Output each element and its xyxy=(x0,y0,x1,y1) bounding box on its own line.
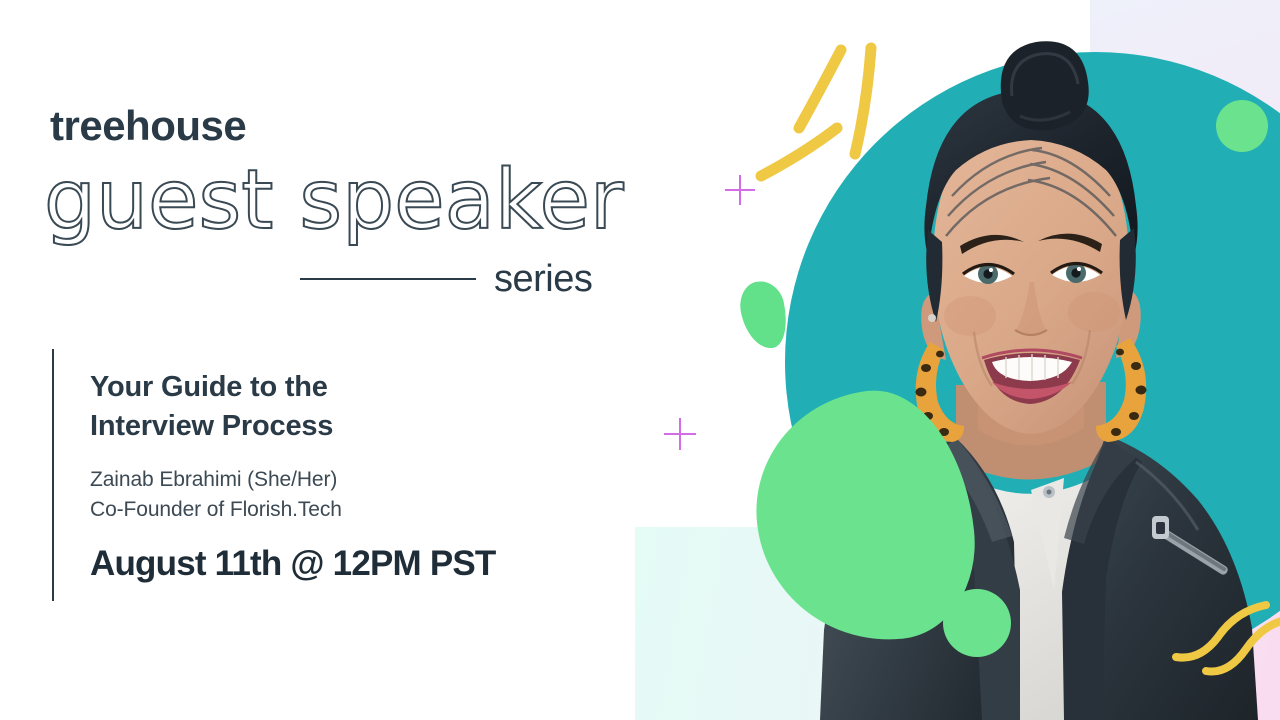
talk-title-line-1: Your Guide to the xyxy=(90,368,610,407)
sparkle-strokes-icon xyxy=(745,28,895,198)
series-divider-rule xyxy=(300,278,476,280)
wavy-lines-icon xyxy=(1170,575,1280,695)
plus-mark-icon-lower xyxy=(664,418,696,450)
circle-icon-bottom-right xyxy=(943,589,1011,657)
presentation-slide: treehouse guest speaker series Your Guid… xyxy=(0,0,1280,720)
series-row: series xyxy=(300,256,630,302)
series-label: series xyxy=(494,260,592,298)
talk-title-line-2: Interview Process xyxy=(90,407,610,446)
speaker-role: Co-Founder of Florish.Tech xyxy=(90,495,610,525)
brand-wordmark: treehouse xyxy=(50,105,246,147)
event-details: Your Guide to the Interview Process Zain… xyxy=(90,368,610,584)
vertical-accent-bar xyxy=(52,349,54,601)
headline-guest-speaker: guest speaker xyxy=(44,160,624,242)
organic-blob-icon-small xyxy=(735,277,792,353)
speaker-name: Zainab Ebrahimi (She/Her) xyxy=(90,465,610,495)
event-datetime: August 11th @ 12PM PST xyxy=(90,545,610,584)
